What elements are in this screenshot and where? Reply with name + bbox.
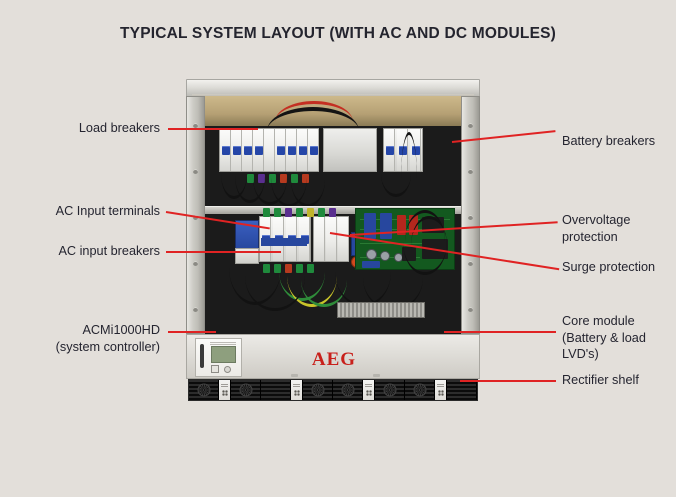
fan-icon: [341, 384, 354, 397]
rectifier-control-strip[interactable]: [435, 380, 447, 400]
rectifier-control-strip[interactable]: [363, 380, 375, 400]
callout-label-ac-input-breakers: AC input breakers: [10, 243, 160, 260]
rectifier-module: [303, 380, 333, 400]
load-breaker-bank: [219, 128, 319, 172]
callout-label-ac-input-terminals: AC Input terminals: [10, 203, 160, 220]
rectifier-shelf: [188, 379, 478, 401]
leader-line-acmi-controller: [168, 331, 216, 333]
rectifier-control-strip[interactable]: [291, 380, 303, 400]
diagram-page: TYPICAL SYSTEM LAYOUT (WITH AC AND DC MO…: [0, 0, 676, 497]
rectifier-module: [189, 380, 219, 400]
core-module: AEG: [186, 334, 480, 379]
callout-label-battery-breakers: Battery breakers: [562, 133, 676, 150]
callout-label-rectifier-shelf: Rectifier shelf: [562, 372, 676, 389]
rectifier-module: [375, 380, 405, 400]
callout-label-core-module: Core module (Battery & load LVD's): [562, 313, 676, 363]
leader-line-load-breakers: [168, 128, 258, 130]
rectifier-module: [333, 380, 363, 400]
cabinet-right-post: [461, 96, 480, 334]
callout-label-load-breakers: Load breakers: [20, 120, 160, 137]
callout-label-acmi-controller: ACMi1000HD (system controller): [10, 322, 160, 355]
fan-icon: [413, 384, 426, 397]
fan-icon: [239, 384, 252, 397]
aux-breaker-bank: [313, 216, 349, 262]
blank-filler-plate: [323, 128, 377, 172]
ac-breaker-blue-bar: [261, 238, 307, 246]
rectifier-module: [231, 380, 261, 400]
leader-line-ac-input-breakers: [166, 251, 281, 253]
rectifier-module: [447, 380, 477, 400]
page-title: TYPICAL SYSTEM LAYOUT (WITH AC AND DC MO…: [0, 25, 676, 43]
rectifier-control-strip[interactable]: [219, 380, 231, 400]
busbar-assembly: [337, 302, 425, 318]
cabinet-interior: [205, 96, 461, 334]
fan-icon: [311, 384, 324, 397]
rectifier-module: [405, 380, 435, 400]
leader-line-core-module: [444, 331, 556, 333]
callout-label-overvoltage-protection: Overvoltage protection: [562, 212, 676, 245]
callout-label-surge-protection: Surge protection: [562, 259, 676, 276]
rectifier-module: [261, 380, 291, 400]
fan-icon: [197, 384, 210, 397]
fan-icon: [383, 384, 396, 397]
leader-line-rectifier-shelf: [460, 380, 556, 382]
aeg-logo: AEG: [187, 349, 481, 371]
overvoltage-module: [364, 213, 376, 239]
